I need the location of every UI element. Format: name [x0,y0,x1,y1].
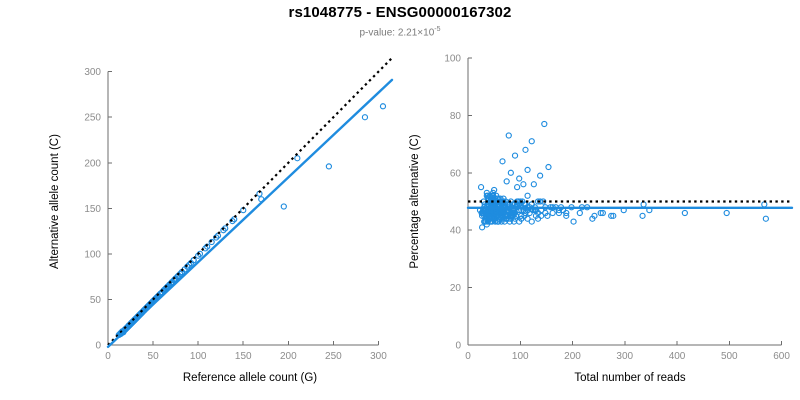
data-point [724,210,729,215]
plot-area [108,58,392,347]
data-point [480,225,485,230]
data-point [525,167,530,172]
y-tick-label: 100 [84,249,101,260]
left-plot-canvas: 050100150200250300050100150200250300Refe… [0,0,400,400]
y-tick-label: 250 [84,113,101,124]
y-axis-title: Percentage alternative (C) [409,134,421,268]
x-axis-title: Reference allele count (G) [183,372,317,384]
plot-area [468,121,792,229]
data-point [362,115,367,120]
y-tick-label: 300 [84,67,101,78]
regression-line [108,80,392,347]
y-tick-label: 50 [90,295,102,306]
y-tick-label: 0 [95,341,101,352]
y-tick-label: 40 [450,226,462,237]
x-tick-label: 600 [773,351,790,362]
data-point [546,165,551,170]
x-tick-label: 200 [564,351,581,362]
figure-root: rs1048775 - ENSG00000167302 p-value: 2.2… [0,0,800,400]
y-tick-label: 100 [444,54,461,65]
data-point [640,213,645,218]
data-point [500,159,505,164]
data-point [521,182,526,187]
data-point [508,170,513,175]
data-point [525,193,530,198]
data-point [763,216,768,221]
y-tick-label: 0 [455,341,461,352]
data-point [512,153,517,158]
x-axis-title: Total number of reads [574,372,685,384]
data-point [380,104,385,109]
x-tick-label: 50 [148,351,160,362]
data-point [479,185,484,190]
data-points [477,121,768,229]
data-point [506,133,511,138]
x-tick-label: 300 [616,351,633,362]
data-point [295,156,300,161]
data-point [550,210,555,215]
y-tick-label: 200 [84,158,101,169]
x-tick-label: 200 [280,351,297,362]
data-point [577,210,582,215]
y-tick-label: 80 [450,111,462,122]
data-point [504,179,509,184]
y-tick-label: 20 [450,283,462,294]
y-axis-title: Alternative allele count (C) [49,134,61,269]
data-point [529,139,534,144]
data-point [682,210,687,215]
x-tick-label: 0 [465,351,471,362]
data-point [523,147,528,152]
x-tick-label: 150 [235,351,252,362]
x-tick-label: 400 [669,351,686,362]
data-point [525,216,530,221]
x-tick-label: 500 [721,351,738,362]
data-point [538,173,543,178]
right-plot-canvas: 0100200300400500600020406080100Total num… [400,0,800,400]
x-tick-label: 100 [190,351,207,362]
data-point [531,182,536,187]
data-point [281,204,286,209]
data-point [542,121,547,126]
x-tick-label: 0 [105,351,111,362]
x-tick-label: 250 [325,351,342,362]
x-tick-label: 300 [370,351,387,362]
data-point [515,185,520,190]
panel-right-scatter: 0100200300400500600020406080100Total num… [400,0,800,400]
y-tick-label: 60 [450,168,462,179]
data-point [326,164,331,169]
data-point [571,219,576,224]
panel-left-scatter: 050100150200250300050100150200250300Refe… [0,0,400,400]
x-tick-label: 100 [512,351,529,362]
y-tick-label: 150 [84,204,101,215]
data-point [517,176,522,181]
